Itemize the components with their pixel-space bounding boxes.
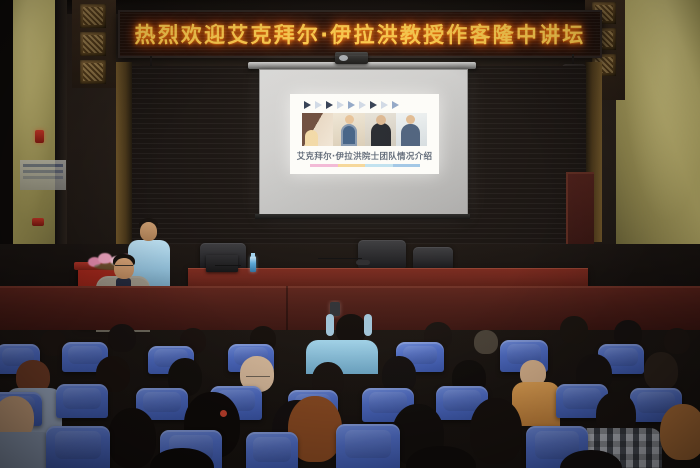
carved-square — [80, 32, 106, 56]
glasses-icon — [246, 376, 270, 380]
screen-bottom-weight-bar — [255, 214, 470, 219]
speaker-head — [140, 222, 157, 241]
microphone-base — [356, 260, 370, 265]
carved-square — [80, 60, 106, 84]
slide-title: 艾克拜尔·伊拉洪院士团队情况介绍 — [290, 150, 439, 162]
slide-photo — [365, 113, 396, 146]
fire-alarm-icon — [35, 130, 44, 143]
audience-area — [0, 300, 700, 468]
audience-head — [660, 404, 700, 460]
laptop — [206, 255, 238, 272]
audience-head — [108, 408, 156, 468]
fire-call-button[interactable] — [32, 218, 44, 226]
microphone-gooseneck — [318, 258, 362, 259]
slide-arrow-decoration — [304, 100, 424, 109]
led-welcome-banner: 热烈欢迎艾克拜尔·伊拉洪教授作客隆中讲坛 — [118, 10, 602, 58]
slide-photo — [302, 113, 333, 146]
water-bottle — [250, 256, 256, 272]
raised-arm — [326, 314, 334, 336]
audience-head — [560, 316, 588, 344]
audience-head — [644, 352, 678, 390]
wall-sign — [20, 160, 66, 190]
auditorium-seat[interactable] — [246, 432, 298, 468]
raised-arm — [364, 314, 372, 336]
audience-head — [108, 324, 136, 352]
hair-clip-icon — [220, 410, 227, 417]
audience-head — [664, 328, 690, 354]
auditorium-seat[interactable] — [336, 424, 400, 468]
auditorium-seat[interactable] — [46, 426, 110, 468]
led-banner-text: 热烈欢迎艾克拜尔·伊拉洪教授作客隆中讲坛 — [120, 19, 600, 49]
projection-screen: 艾克拜尔·伊拉洪院士团队情况介绍 — [259, 69, 468, 216]
slide-photo — [396, 113, 427, 146]
ceiling-projector — [335, 52, 368, 64]
slide-photo-strip — [302, 113, 427, 146]
wall-panel-right — [616, 0, 700, 250]
wall-jamb-left-inner — [55, 0, 67, 265]
audience-head — [470, 398, 522, 464]
slide-accent-bar — [310, 164, 420, 167]
slide-photo — [333, 113, 364, 146]
stage-chair — [413, 247, 453, 269]
microphone-gooseneck — [215, 265, 241, 266]
auditorium-screenshot: 热烈欢迎艾克拜尔·伊拉洪教授作客隆中讲坛 艾克拜尔·伊拉洪院士团队情况介绍 — [0, 0, 700, 468]
audience-head — [474, 330, 498, 354]
glasses-icon — [115, 265, 133, 269]
carved-square — [80, 4, 106, 28]
presentation-slide: 艾克拜尔·伊拉洪院士团队情况介绍 — [290, 94, 439, 174]
auditorium-seat[interactable] — [56, 384, 108, 418]
